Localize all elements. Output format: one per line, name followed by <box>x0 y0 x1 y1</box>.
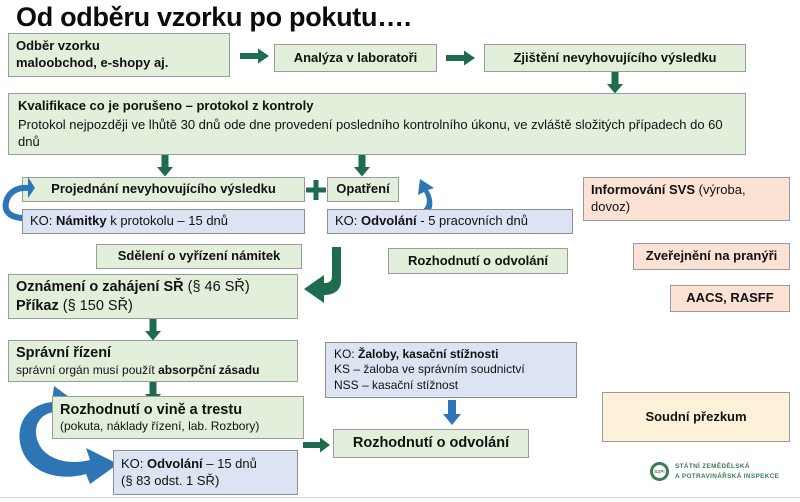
node-ko-odvolani-15[interactable]: KO: Odvolání – 15 dnů (§ 83 odst. 1 SŘ) <box>113 450 298 495</box>
arrow-kvalifikace-to-projednani <box>156 155 174 177</box>
node-ko-namitky[interactable]: KO: Námitky k protokolu – 15 dnů <box>22 209 305 234</box>
node-rozhodnuti-vine-heading: Rozhodnutí o vině a trestu <box>60 401 296 420</box>
node-sdeleni-label: Sdělení o vyřízení námitek <box>118 248 281 265</box>
node-rozhodnuti-odvolani-top[interactable]: Rozhodnutí o odvolání <box>388 248 568 274</box>
node-informovani-line2: dovoz) <box>591 199 782 216</box>
node-ko-namitky-text: KO: Námitky k protokolu – 15 dnů <box>30 213 297 230</box>
node-oznameni[interactable]: Oznámení o zahájení SŘ (§ 46 SŘ) Příkaz … <box>8 274 298 319</box>
szpi-logo-line2: A POTRAVINÁŘSKÁ INSPEKCE <box>675 472 779 481</box>
node-kvalifikace[interactable]: Kvalifikace co je porušeno – protokol z … <box>8 93 746 155</box>
page-title: Od odběru vzorku po pokutu…. <box>16 2 411 33</box>
node-aacs-rasff[interactable]: AACS, RASFF <box>670 285 790 312</box>
node-rozhodnuti-odvolani-bottom[interactable]: Rozhodnutí o odvolání <box>333 429 529 458</box>
node-zverejneni-pranyr[interactable]: Zveřejnění na pranýři <box>633 243 790 270</box>
node-rozhodnuti-odvolani-top-label: Rozhodnutí o odvolání <box>408 253 548 270</box>
arrow-oznameni-to-spravni-rizeni <box>144 319 162 341</box>
node-ko-odvolani-15-line1: KO: Odvolání – 15 dnů <box>121 456 290 473</box>
node-opatreni[interactable]: Opatření <box>327 177 399 202</box>
node-ko-odvolani-5-text: KO: Odvolání - 5 pracovních dnů <box>335 213 565 230</box>
node-opatreni-label: Opatření <box>336 181 389 198</box>
szpi-logo-mark <box>650 462 669 481</box>
node-rozhodnuti-vine-body: (pokuta, náklady řízení, lab. Rozbory) <box>60 419 296 434</box>
arrow-elbow-to-oznameni <box>296 245 356 307</box>
node-analyza-label: Analýza v laboratoři <box>294 50 418 67</box>
node-projednani[interactable]: Projednání nevyhovujícího výsledku <box>22 177 305 202</box>
szpi-logo-line1: STÁTNÍ ZEMĚDĚLSKÁ <box>675 462 779 471</box>
node-informovani-svs[interactable]: Informování SVS (výroba, dovoz) <box>583 177 790 221</box>
node-spravni-rizeni-heading: Správní řízení <box>16 344 290 363</box>
arrow-analyza-to-zjisteni <box>446 50 476 66</box>
szpi-logo: STÁTNÍ ZEMĚDĚLSKÁ A POTRAVINÁŘSKÁ INSPEK… <box>650 462 779 481</box>
slide-canvas: Od odběru vzorku po pokutu…. Odběr vzork… <box>0 0 800 502</box>
node-informovani-line1: Informování SVS (výroba, <box>591 182 782 199</box>
node-spravni-rizeni-body: správní orgán musí použít absorpční zása… <box>16 363 290 378</box>
node-ko-zaloby[interactable]: KO: Žaloby, kasační stížnosti KS – žalob… <box>325 342 577 398</box>
arrow-zaloby-to-rozhodnuti <box>442 400 462 426</box>
node-rozhodnuti-odvolani-bottom-label: Rozhodnutí o odvolání <box>353 434 509 453</box>
node-ko-odvolani-15-line2: (§ 83 odst. 1 SŘ) <box>121 473 290 490</box>
node-oznameni-line1: Oznámení o zahájení SŘ (§ 46 SŘ) <box>16 278 290 297</box>
node-odber-vzorku[interactable]: Odběr vzorku maloobchod, e-shopy aj. <box>8 33 230 77</box>
node-zjisteni-vysledku[interactable]: Zjištění nevyhovujícího výsledku <box>484 44 746 72</box>
node-soudni-prezkum[interactable]: Soudní přezkum <box>602 392 790 442</box>
node-sdeleni[interactable]: Sdělení o vyřízení námitek <box>96 244 302 269</box>
node-analyza-v-laboratori[interactable]: Analýza v laboratoři <box>274 44 437 72</box>
node-ko-zaloby-line1: KO: Žaloby, kasační stížnosti <box>334 347 568 362</box>
node-kvalifikace-body: Protokol nejpozději ve lhůtě 30 dnů ode … <box>18 117 736 150</box>
footer-divider <box>0 497 800 498</box>
node-soudni-label: Soudní přezkum <box>645 409 746 426</box>
node-ko-zaloby-line2: KS – žaloba ve správním soudnictví <box>334 362 568 377</box>
plus-icon <box>306 180 326 200</box>
arrow-to-rozhodnuti-odvolani-bottom <box>303 437 331 453</box>
node-projednani-label: Projednání nevyhovujícího výsledku <box>51 181 276 198</box>
node-zverejneni-label: Zveřejnění na pranýři <box>646 248 778 265</box>
node-odber-line1: Odběr vzorku <box>16 38 222 55</box>
node-spravni-rizeni[interactable]: Správní řízení správní orgán musí použít… <box>8 340 298 382</box>
node-aacs-label: AACS, RASFF <box>686 290 773 307</box>
node-oznameni-line2: Příkaz (§ 150 SŘ) <box>16 297 290 316</box>
szpi-logo-text: STÁTNÍ ZEMĚDĚLSKÁ A POTRAVINÁŘSKÁ INSPEK… <box>675 462 779 481</box>
node-ko-odvolani-5[interactable]: KO: Odvolání - 5 pracovních dnů <box>327 209 573 234</box>
node-zjisteni-label: Zjištění nevyhovujícího výsledku <box>513 50 716 67</box>
arrow-kvalifikace-to-opatreni <box>353 155 371 177</box>
node-odber-line2: maloobchod, e-shopy aj. <box>16 55 222 72</box>
node-rozhodnuti-vine-a-trestu[interactable]: Rozhodnutí o vině a trestu (pokuta, nákl… <box>52 396 304 439</box>
node-ko-zaloby-line3: NSS – kasační stížnost <box>334 378 568 393</box>
arrow-zjisteni-to-kvalifikace <box>606 72 624 94</box>
arrow-odber-to-analyza <box>240 48 270 64</box>
node-kvalifikace-heading: Kvalifikace co je porušeno – protokol z … <box>18 98 736 115</box>
